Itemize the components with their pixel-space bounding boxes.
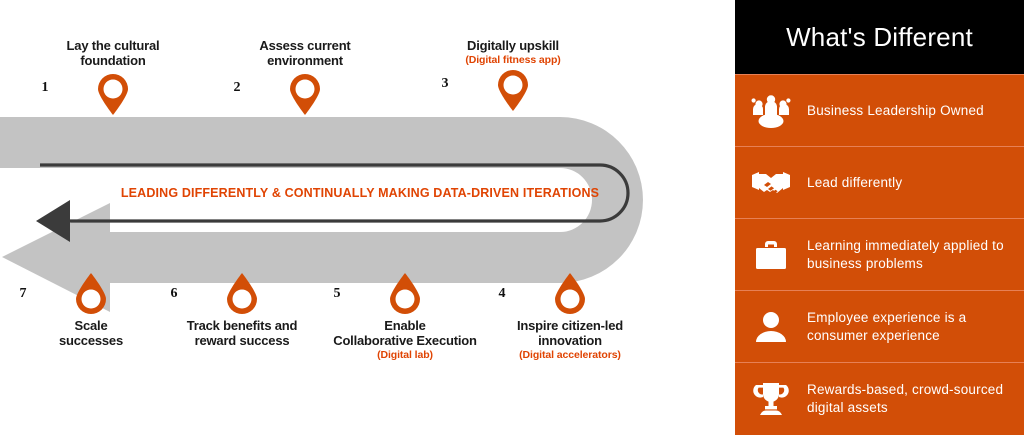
step-number: 7 <box>6 286 40 302</box>
step-pin-wrap: 5 <box>320 272 490 316</box>
step-pin-wrap: 7 <box>6 272 176 316</box>
panel-row-rewards-based[interactable]: Rewards-based, crowd-sourced digital ass… <box>735 362 1024 434</box>
panel-row-text: Rewards-based, crowd-sourced digital ass… <box>807 381 1024 417</box>
step-number: 5 <box>320 286 354 302</box>
panel-row-text: Employee experience is a consumer experi… <box>807 309 1024 345</box>
step-caption: Lay the cultural foundation <box>28 38 198 68</box>
map-pin-up-icon <box>553 272 587 314</box>
step-pin-wrap: 4 <box>485 272 655 316</box>
step-number: 3 <box>428 76 462 92</box>
step-caption-wrap: Assess current environment <box>220 38 390 68</box>
panel-row-text: Business Leadership Owned <box>807 102 994 120</box>
step-caption-wrap: Enable Collaborative Execution (Digital … <box>320 318 490 362</box>
step-bottom-6[interactable]: 6 Track benefits and reward success <box>157 272 327 349</box>
panel-title: What's Different <box>735 0 1024 74</box>
step-number: 4 <box>485 286 519 302</box>
map-pin-up-icon <box>388 272 422 314</box>
step-caption: Scale successes <box>6 318 176 348</box>
process-diagram: LEADING DIFFERENTLY & CONTINUALLY MAKING… <box>0 0 735 435</box>
panel-row-learning-applied[interactable]: Learning immediately applied to business… <box>735 218 1024 290</box>
person-icon <box>754 310 788 344</box>
step-caption: Track benefits and reward success <box>157 318 327 348</box>
step-subcaption: (Digital lab) <box>320 349 490 362</box>
step-number: 2 <box>220 80 254 96</box>
step-caption: Assess current environment <box>220 38 390 68</box>
step-pin-wrap: 6 <box>157 272 327 316</box>
map-pin-up-icon <box>74 272 108 314</box>
panel-row-icon <box>735 381 807 417</box>
step-caption-wrap: Track benefits and reward success <box>157 318 327 348</box>
step-caption: Inspire citizen-led innovation <box>485 318 655 348</box>
step-caption-wrap: Scale successes <box>6 318 176 348</box>
step-pin-wrap: 2 <box>220 74 390 118</box>
panel-row-lead-differently[interactable]: Lead differently <box>735 146 1024 218</box>
step-caption: Digitally upskill <box>428 38 598 53</box>
step-subcaption: (Digital accelerators) <box>485 349 655 362</box>
step-number: 1 <box>28 80 62 96</box>
panel-row-icon <box>735 168 807 198</box>
map-pin-down-icon <box>496 70 530 112</box>
trophy-icon <box>751 381 791 417</box>
people-group-icon <box>751 94 791 128</box>
step-number: 6 <box>157 286 191 302</box>
panel-row-employee-experience[interactable]: Employee experience is a consumer experi… <box>735 290 1024 362</box>
step-caption-wrap: Lay the cultural foundation <box>28 38 198 68</box>
briefcase-icon <box>752 238 790 272</box>
step-caption-wrap: Digitally upskill (Digital fitness app) <box>428 38 598 67</box>
handshake-icon <box>750 168 792 198</box>
panel-row-icon <box>735 310 807 344</box>
step-bottom-4[interactable]: 4 Inspire citizen-led innovation (Digita… <box>485 272 655 362</box>
map-pin-up-icon <box>225 272 259 314</box>
panel-row-icon <box>735 94 807 128</box>
map-pin-down-icon <box>96 74 130 116</box>
step-caption-wrap: Inspire citizen-led innovation (Digital … <box>485 318 655 362</box>
panel-row-text: Learning immediately applied to business… <box>807 237 1024 273</box>
step-subcaption: (Digital fitness app) <box>428 54 598 67</box>
whats-different-panel: What's Different Business Leadership Own… <box>735 0 1024 435</box>
step-bottom-5[interactable]: 5 Enable Collaborative Execution (Digita… <box>320 272 490 362</box>
loop-label: LEADING DIFFERENTLY & CONTINUALLY MAKING… <box>100 186 620 200</box>
step-top-2[interactable]: Assess current environment 2 <box>220 38 390 118</box>
step-pin-wrap: 1 <box>28 74 198 118</box>
panel-row-business-leadership-owned[interactable]: Business Leadership Owned <box>735 74 1024 146</box>
step-caption: Enable Collaborative Execution <box>320 318 490 348</box>
map-pin-down-icon <box>288 74 322 116</box>
panel-row-text: Lead differently <box>807 174 912 192</box>
step-top-3[interactable]: Digitally upskill (Digital fitness app) … <box>428 38 598 114</box>
panel-row-icon <box>735 238 807 272</box>
step-top-1[interactable]: Lay the cultural foundation 1 <box>28 38 198 118</box>
step-bottom-7[interactable]: 7 Scale successes <box>6 272 176 349</box>
step-pin-wrap: 3 <box>428 70 598 114</box>
